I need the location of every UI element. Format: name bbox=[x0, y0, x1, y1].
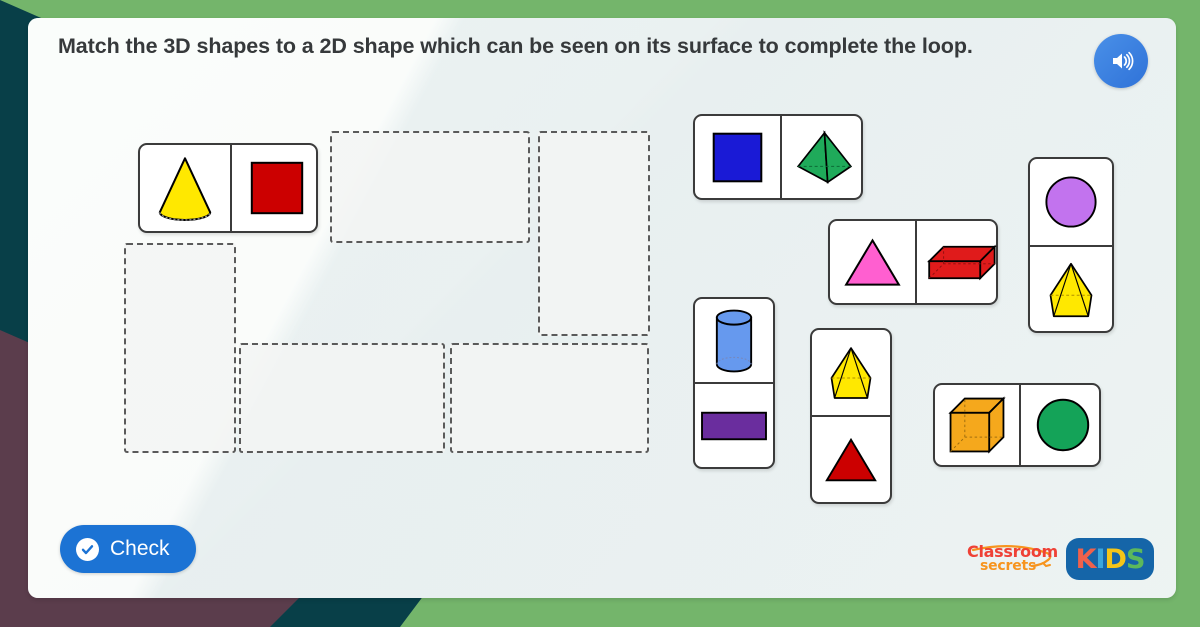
shape-2d-triangle-icon bbox=[830, 221, 915, 303]
kids-logo-letter: S bbox=[1126, 544, 1144, 575]
speaker-glyph bbox=[1107, 47, 1135, 75]
check-button[interactable]: Check bbox=[60, 525, 196, 573]
kids-logo-letter: D bbox=[1105, 544, 1126, 575]
check-circle-icon bbox=[76, 538, 99, 561]
drop-slot[interactable] bbox=[450, 343, 649, 453]
classroom-secrets-logo: Classroom secrets bbox=[965, 541, 1057, 577]
classroom-secrets-line2: secrets bbox=[980, 558, 1036, 574]
domino-tile[interactable] bbox=[693, 114, 863, 200]
shape-3d-cube-icon bbox=[935, 385, 1019, 465]
domino-tile[interactable] bbox=[810, 328, 892, 504]
kids-logo-letter: K bbox=[1076, 544, 1096, 575]
check-mark-glyph bbox=[80, 542, 95, 557]
drop-slot[interactable] bbox=[330, 131, 530, 243]
speaker-icon[interactable] bbox=[1094, 34, 1148, 88]
activity-screen: Match the 3D shapes to a 2D shape which … bbox=[0, 0, 1200, 627]
question-text: Match the 3D shapes to a 2D shape which … bbox=[58, 32, 1088, 61]
shape-3d-cylinder-icon bbox=[695, 299, 773, 382]
shape-3d-cone-icon bbox=[140, 145, 230, 231]
drop-slot[interactable] bbox=[124, 243, 236, 453]
drop-slot[interactable] bbox=[538, 131, 650, 336]
domino-tile[interactable] bbox=[138, 143, 318, 233]
shape-2d-square-icon bbox=[695, 116, 780, 198]
shape-2d-circle-icon bbox=[1030, 159, 1112, 245]
kids-logo-letter: I bbox=[1096, 544, 1105, 575]
drop-slot[interactable] bbox=[239, 343, 445, 453]
domino-tile[interactable] bbox=[828, 219, 998, 305]
logo-group: Classroom secrets KIDS bbox=[965, 538, 1154, 580]
shape-2d-rectangle-icon bbox=[695, 382, 773, 467]
shape-2d-circle-icon bbox=[1019, 385, 1105, 465]
activity-card: Match the 3D shapes to a 2D shape which … bbox=[28, 18, 1176, 598]
domino-tile[interactable] bbox=[933, 383, 1101, 467]
shape-2d-square-icon bbox=[230, 145, 322, 231]
domino-tile[interactable] bbox=[693, 297, 775, 469]
domino-tile[interactable] bbox=[1028, 157, 1114, 333]
shape-3d-pyramid-icon bbox=[812, 330, 890, 415]
kids-logo: KIDS bbox=[1066, 538, 1154, 580]
shape-3d-pyramid-icon bbox=[1030, 245, 1112, 333]
check-button-label: Check bbox=[110, 537, 170, 561]
shape-3d-tetrahedron-icon bbox=[780, 116, 867, 198]
shape-2d-triangle-icon bbox=[812, 415, 890, 502]
shape-3d-cuboid-icon bbox=[915, 221, 1002, 303]
